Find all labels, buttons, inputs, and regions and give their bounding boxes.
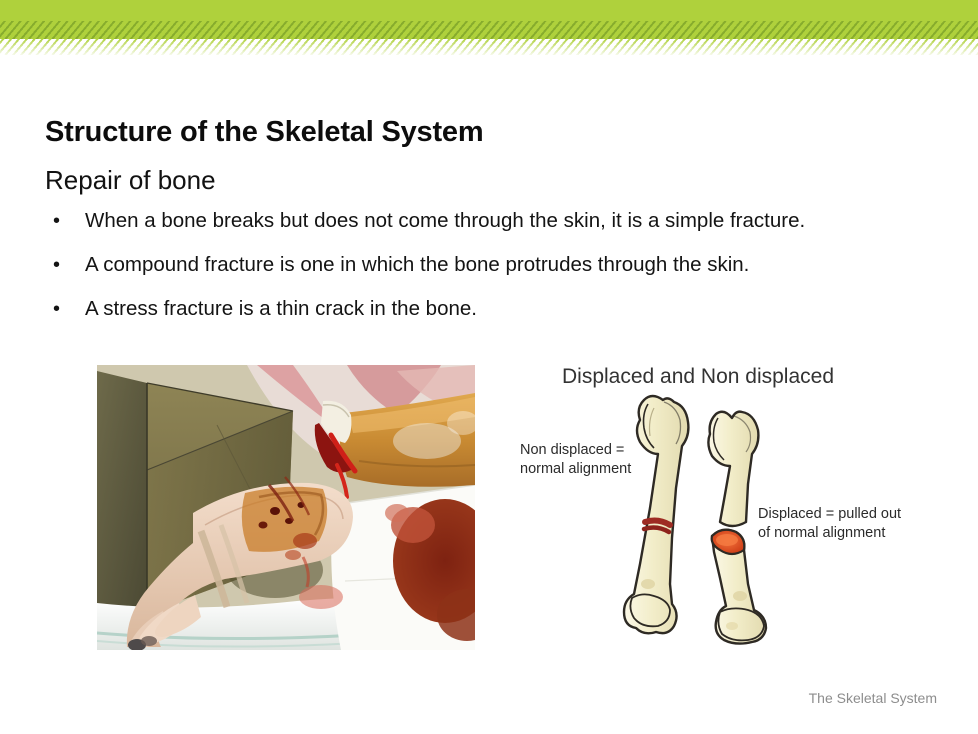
list-item: • A compound fracture is one in which th… — [45, 251, 925, 279]
banner-green-hatch-band — [0, 21, 978, 39]
list-item: • A stress fracture is a thin crack in t… — [45, 295, 925, 323]
compound-fracture-photo — [97, 365, 475, 650]
bullet-marker-icon: • — [53, 207, 60, 235]
banner-solid-band — [0, 0, 978, 21]
bullet-text: When a bone breaks but does not come thr… — [85, 207, 925, 235]
bullet-text: A stress fracture is a thin crack in the… — [85, 295, 925, 323]
bone-artwork — [620, 388, 800, 646]
list-item: • When a bone breaks but does not come t… — [45, 207, 925, 235]
slide-title: Structure of the Skeletal System — [45, 116, 483, 149]
displaced-fracture-diagram: Displaced and Non displaced Non displace… — [510, 360, 960, 650]
bone-non-displaced — [624, 396, 688, 633]
banner-fade-overlay — [0, 39, 978, 57]
bone-displaced — [708, 412, 766, 644]
bullet-marker-icon: • — [53, 295, 60, 323]
slide-footer: The Skeletal System — [809, 690, 937, 706]
bullet-marker-icon: • — [53, 251, 60, 279]
slide-subtitle: Repair of bone — [45, 165, 216, 196]
bullet-text: A compound fracture is one in which the … — [85, 251, 925, 279]
bone-illustrations — [620, 388, 800, 646]
diagram-title: Displaced and Non displaced — [562, 365, 834, 389]
slide: Structure of the Skeletal System Repair … — [0, 0, 978, 734]
photo-artwork — [97, 365, 475, 650]
top-banner — [0, 0, 978, 56]
bullet-list: • When a bone breaks but does not come t… — [45, 207, 925, 339]
